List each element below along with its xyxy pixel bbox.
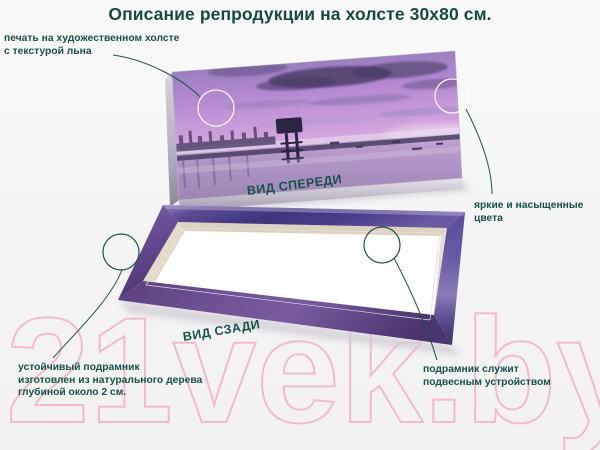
front-canvas	[165, 51, 477, 214]
annotation-vivid-colors: яркие и насыщенные цвета	[474, 200, 583, 225]
product-description-image: 21vek.by	[0, 0, 600, 450]
annotation-stretcher-bar: устойчивый подрамник изготовлен из натур…	[18, 362, 202, 400]
page-title: Описание репродукции на холсте 30x80 см.	[0, 4, 600, 25]
annotation-hanging-device: подрамник служит подвесным устройством	[423, 364, 551, 389]
annotation-print-texture: печать на художественном холсте с тексту…	[4, 33, 179, 58]
back-canvas-frame	[118, 205, 465, 356]
